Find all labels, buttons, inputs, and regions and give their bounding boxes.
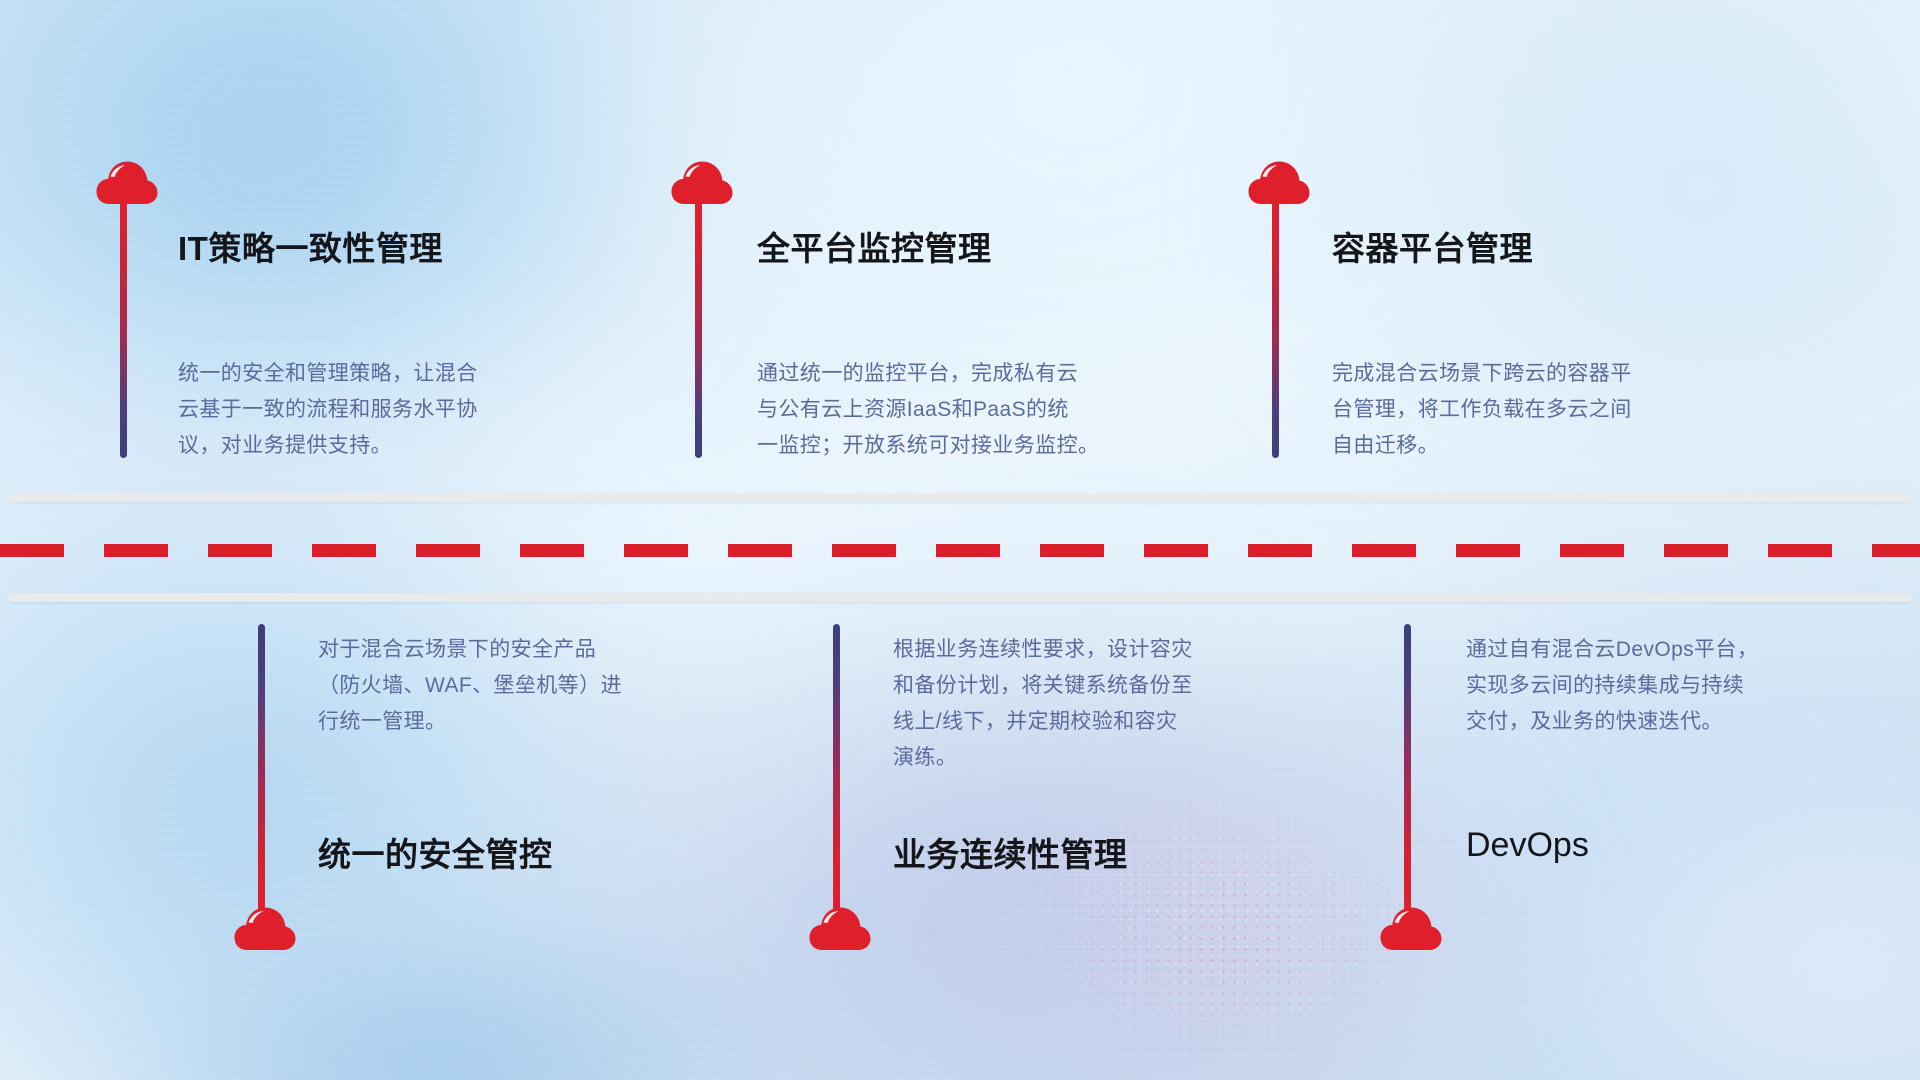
timeline-stem bbox=[695, 196, 702, 458]
item-title: 统一的安全管控 bbox=[318, 828, 553, 876]
cloud-icon bbox=[234, 906, 296, 952]
cloud-icon bbox=[809, 906, 871, 952]
item-description: 根据业务连续性要求，设计容灾 和备份计划，将关键系统备份至 线上/线下，并定期校… bbox=[893, 632, 1323, 776]
item-description: 完成混合云场景下跨云的容器平 台管理，将工作负载在多云之间 自由迁移。 bbox=[1332, 356, 1762, 464]
timeline-stem bbox=[1272, 196, 1279, 458]
item-description: 通过统一的监控平台，完成私有云 与公有云上资源IaaS和PaaS的统 一监控；开… bbox=[757, 356, 1217, 464]
item-description: 通过自有混合云DevOps平台， 实现多云间的持续集成与持续 交付，及业务的快速… bbox=[1466, 632, 1896, 740]
item-title: IT策略一致性管理 bbox=[178, 222, 443, 270]
item-description: 统一的安全和管理策略，让混合 云基于一致的流程和服务水平协 议，对业务提供支持。 bbox=[178, 356, 608, 464]
timeline-stem bbox=[258, 624, 265, 914]
item-title: DevOps bbox=[1466, 826, 1589, 865]
infographic-canvas: IT策略一致性管理 统一的安全和管理策略，让混合 云基于一致的流程和服务水平协 … bbox=[0, 0, 1920, 1080]
timeline-stem bbox=[1404, 624, 1411, 914]
timeline-stem bbox=[120, 196, 127, 458]
dashed-road-line bbox=[0, 544, 1920, 557]
cloud-icon bbox=[1248, 160, 1310, 206]
item-description: 对于混合云场景下的安全产品 （防火墙、WAF、堡垒机等）进 行统一管理。 bbox=[318, 632, 748, 740]
item-title: 业务连续性管理 bbox=[893, 828, 1128, 876]
top-rule bbox=[8, 493, 1912, 502]
bottom-rule bbox=[8, 593, 1912, 602]
cloud-icon bbox=[96, 160, 158, 206]
cloud-icon bbox=[671, 160, 733, 206]
item-title: 容器平台管理 bbox=[1332, 222, 1533, 270]
timeline-stem bbox=[833, 624, 840, 914]
cloud-icon bbox=[1380, 906, 1442, 952]
item-title: 全平台监控管理 bbox=[757, 222, 992, 270]
